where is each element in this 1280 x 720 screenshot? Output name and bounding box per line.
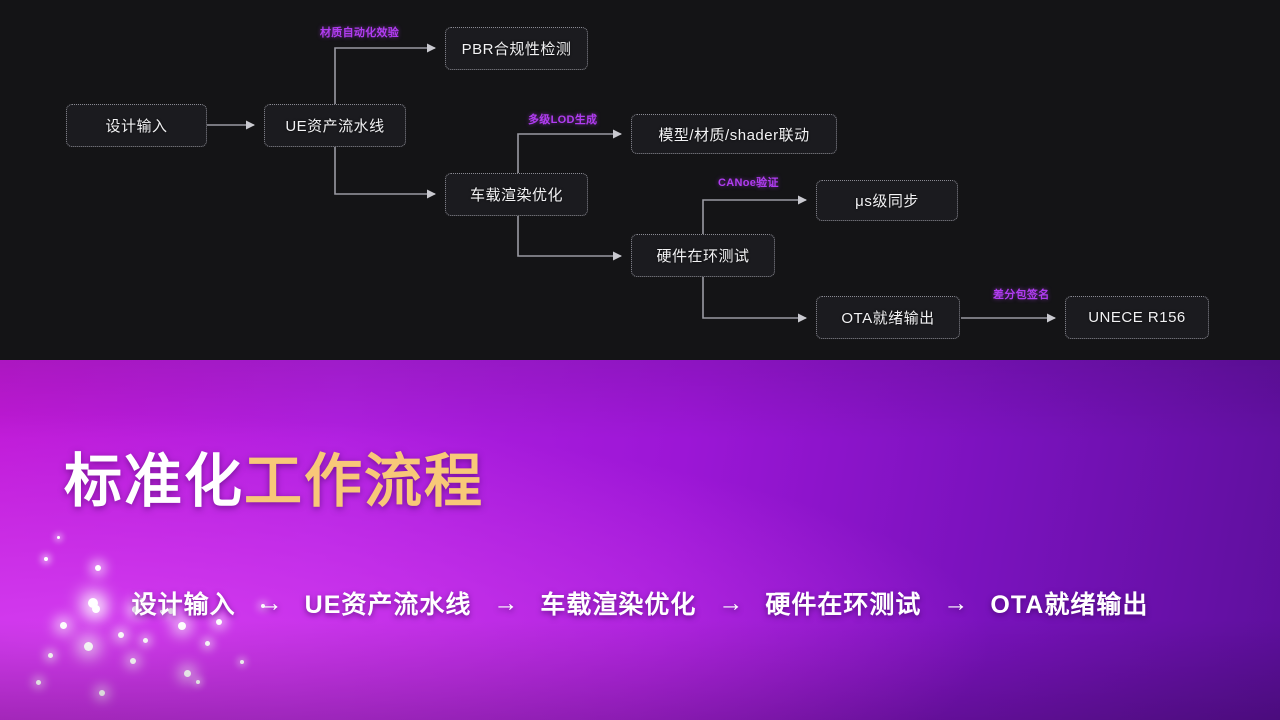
slide-stage: 设计输入 UE资产流水线 PBR合规性检测 车载渲染优化 模型/材质/shade… bbox=[0, 0, 1280, 720]
node-label: UE资产流水线 bbox=[285, 115, 384, 136]
flow-arrow-icon: → bbox=[943, 589, 968, 618]
node-hil-test[interactable]: 硬件在环测试 bbox=[631, 234, 775, 277]
edge-hil-to-ota bbox=[703, 277, 806, 318]
edge-ue-to-pbr bbox=[335, 48, 435, 104]
node-label: PBR合规性检测 bbox=[462, 38, 572, 59]
sparkle-icon bbox=[57, 536, 60, 539]
node-ue-pipeline[interactable]: UE资产流水线 bbox=[264, 104, 406, 147]
sparkle-icon bbox=[240, 660, 244, 664]
node-model-material-shader-link[interactable]: 模型/材质/shader联动 bbox=[631, 114, 837, 154]
edge-label-multi-level-lod: 多级LOD生成 bbox=[528, 111, 597, 127]
page-title-accent: 工作流程 bbox=[244, 449, 484, 514]
flow-step-2: UE资产流水线 bbox=[305, 585, 472, 621]
edge-ue-to-vehicle bbox=[335, 147, 435, 194]
sparkle-icon bbox=[48, 653, 53, 658]
node-pbr-check[interactable]: PBR合规性检测 bbox=[445, 27, 588, 70]
page-title: 标准化工作流程 bbox=[64, 434, 484, 518]
edge-label-material-auto-verify: 材质自动化效验 bbox=[320, 24, 399, 40]
sparkle-icon bbox=[196, 680, 200, 684]
flow-arrow-icon: → bbox=[258, 589, 283, 618]
flow-arrow-icon: → bbox=[718, 589, 743, 618]
flow-step-1: 设计输入 bbox=[132, 585, 236, 621]
edge-label-canoe-verify: CANoe验证 bbox=[718, 174, 779, 190]
node-label: 硬件在环测试 bbox=[656, 245, 749, 266]
sparkle-icon bbox=[44, 557, 48, 561]
node-label: μs级同步 bbox=[855, 190, 919, 211]
node-vehicle-render[interactable]: 车载渲染优化 bbox=[445, 173, 588, 216]
node-label: OTA就绪输出 bbox=[841, 307, 934, 328]
sparkle-icon bbox=[130, 658, 136, 664]
node-ota-ready-output[interactable]: OTA就绪输出 bbox=[816, 296, 960, 339]
sparkle-icon bbox=[184, 670, 191, 677]
flow-step-4: 硬件在环测试 bbox=[765, 585, 921, 621]
flow-summary-strip: 设计输入 → UE资产流水线 → 车载渲染优化 → 硬件在环测试 → OTA就绪… bbox=[0, 585, 1280, 621]
sparkle-icon bbox=[99, 690, 105, 696]
page-title-primary: 标准化 bbox=[64, 449, 244, 514]
sparkle-icon bbox=[36, 680, 41, 685]
sparkle-icon bbox=[95, 565, 101, 571]
edge-hil-to-ussync bbox=[703, 200, 806, 234]
edge-vehicle-to-hil bbox=[518, 216, 621, 256]
title-banner: 标准化工作流程 设计输入 → UE资产流水线 → 车载渲染优化 → 硬件在环测试… bbox=[0, 360, 1280, 720]
flow-step-5: OTA就绪输出 bbox=[990, 585, 1148, 621]
sparkle-icon bbox=[84, 642, 93, 651]
node-unece-r156[interactable]: UNECE R156 bbox=[1065, 296, 1209, 339]
workflow-diagram: 设计输入 UE资产流水线 PBR合规性检测 车载渲染优化 模型/材质/shade… bbox=[0, 0, 1280, 360]
edge-label-diff-package-sign: 差分包签名 bbox=[993, 286, 1050, 302]
node-label: UNECE R156 bbox=[1088, 309, 1186, 326]
sparkle-icon bbox=[118, 632, 124, 638]
sparkle-icon bbox=[143, 638, 148, 643]
node-label: 车载渲染优化 bbox=[470, 184, 563, 205]
node-label: 模型/材质/shader联动 bbox=[658, 124, 809, 145]
node-microsecond-sync[interactable]: μs级同步 bbox=[816, 180, 958, 221]
node-design-input[interactable]: 设计输入 bbox=[66, 104, 207, 147]
node-label: 设计输入 bbox=[105, 115, 167, 136]
sparkle-icon bbox=[178, 622, 186, 630]
sparkle-icon bbox=[60, 622, 67, 629]
flow-arrow-icon: → bbox=[493, 589, 518, 618]
sparkle-icon bbox=[205, 641, 210, 646]
flow-step-3: 车载渲染优化 bbox=[540, 585, 696, 621]
edge-vehicle-to-msl bbox=[518, 134, 621, 173]
